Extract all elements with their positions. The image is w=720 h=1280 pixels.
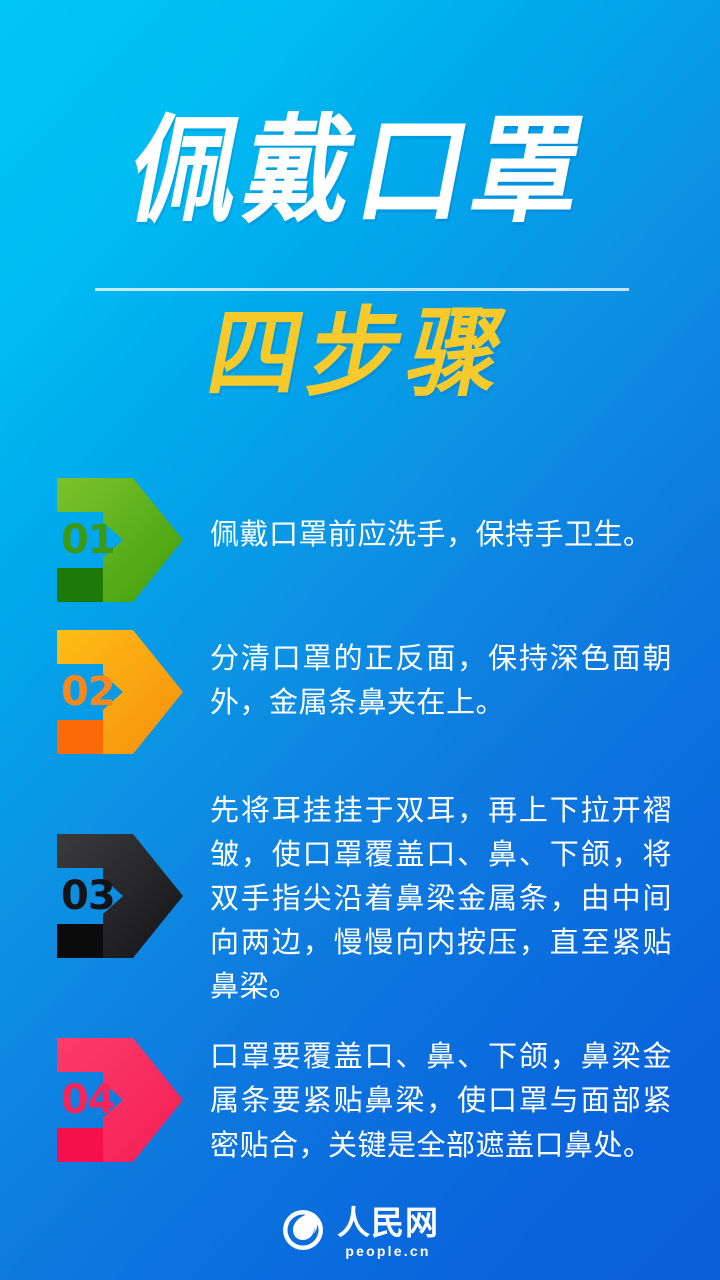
brand-text: 人民网 people.cn (337, 1206, 439, 1258)
brand-name-en: people.cn (345, 1244, 430, 1258)
list-item: 03 先将耳挂挂于双耳，再上下拉开褶皱，使口罩覆盖口、鼻、下颌，将双手指尖沿着鼻… (0, 788, 720, 1008)
step-badge-04: 04 (55, 1036, 185, 1164)
step-description: 佩戴口罩前应洗手，保持手卫生。 (185, 476, 720, 556)
step-description: 先将耳挂挂于双耳，再上下拉开褶皱，使口罩覆盖口、鼻、下颌，将双手指尖沿着鼻梁金属… (185, 788, 720, 1008)
step-description: 口罩要覆盖口、鼻、下颌，鼻梁金属条要紧贴鼻梁，使口罩与面部紧密贴合，关键是全部遮… (185, 1030, 720, 1166)
page-subtitle: 四步骤 (0, 305, 720, 403)
chevron-arrow-icon (55, 628, 185, 756)
list-item: 04 口罩要覆盖口、鼻、下颌，鼻梁金属条要紧贴鼻梁，使口罩与面部紧密贴合，关键是… (0, 1030, 720, 1180)
page-title: 佩戴口罩 (0, 114, 720, 231)
subtitle-block: 四步骤 (0, 308, 720, 400)
chevron-arrow-icon (55, 1036, 185, 1164)
step-badge-01: 01 (55, 476, 185, 604)
globe-swoosh-icon (281, 1208, 325, 1257)
step-badge-02: 02 (55, 628, 185, 756)
footer-logo: 人民网 people.cn (0, 1206, 720, 1258)
step-badge-03: 03 (55, 832, 185, 960)
list-item: 02 分清口罩的正反面，保持深色面朝外，金属条鼻夹在上。 (0, 628, 720, 766)
step-description: 分清口罩的正反面，保持深色面朝外，金属条鼻夹在上。 (185, 628, 720, 724)
brand-name-cn: 人民网 (337, 1206, 439, 1239)
title-divider (95, 288, 629, 291)
chevron-arrow-icon (55, 476, 185, 604)
steps-list: 01 佩戴口罩前应洗手，保持手卫生。 02 分清口 (0, 476, 720, 1202)
title-block: 佩戴口罩 (0, 118, 720, 226)
chevron-arrow-icon (55, 832, 185, 960)
poster-root: 佩戴口罩 四步骤 01 佩戴口罩前应 (0, 0, 720, 1280)
list-item: 01 佩戴口罩前应洗手，保持手卫生。 (0, 476, 720, 606)
